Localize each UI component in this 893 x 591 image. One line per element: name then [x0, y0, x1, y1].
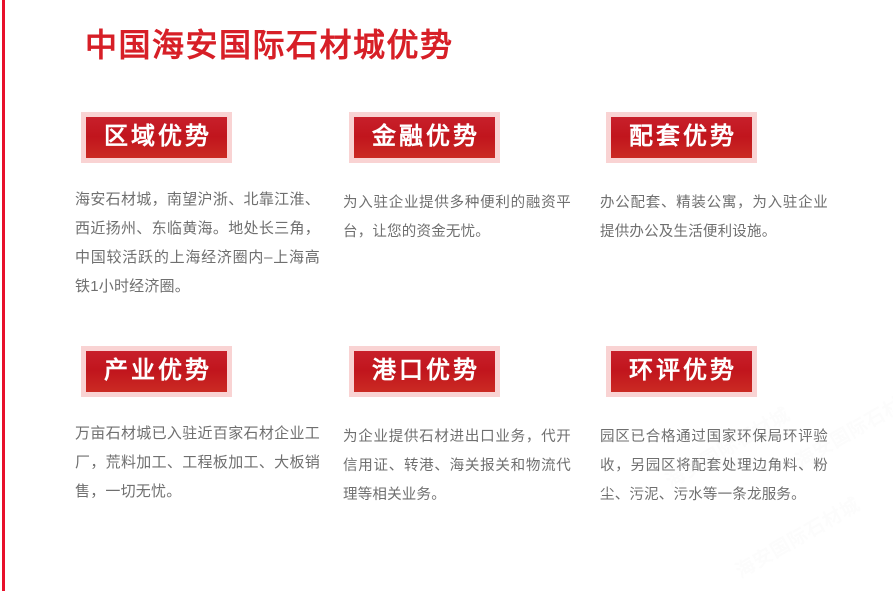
advantage-body: 万亩石材城已入驻近百家石材企业工厂，荒料加工、工程板加工、大板销售，一切无忧。 — [75, 419, 320, 506]
advantage-body: 海安石材城，南望沪浙、北靠江淮、西近扬州、东临黄海。地处长三角，中国较活跃的上海… — [75, 185, 320, 301]
badge-label: 区域优势 — [101, 124, 212, 150]
badge-label: 金融优势 — [369, 124, 480, 150]
badge-label: 环评优势 — [626, 358, 737, 384]
badge-label: 港口优势 — [369, 358, 480, 384]
badge-plate: 产业优势 — [86, 351, 227, 392]
advantage-card-industry: 产业优势 万亩石材城已入驻近百家石材企业工厂，荒料加工、工程板加工、大板销售，一… — [75, 346, 345, 521]
badge-plate: 环评优势 — [611, 351, 752, 392]
advantage-body: 为企业提供石材进出口业务，代开信用证、转港、海关报关和物流代理等相关业务。 — [343, 423, 571, 510]
badge-plate: 金融优势 — [354, 117, 495, 158]
badge-plate: 区域优势 — [86, 117, 227, 158]
badge-plate: 配套优势 — [611, 117, 752, 158]
badge-finance: 金融优势 — [349, 112, 500, 163]
badge-region: 区域优势 — [81, 112, 232, 163]
advantage-card-port: 港口优势 为企业提供石材进出口业务，代开信用证、转港、海关报关和物流代理等相关业… — [343, 346, 613, 525]
badge-label: 配套优势 — [626, 124, 737, 150]
advantage-body: 为入驻企业提供多种便利的融资平台，让您的资金无忧。 — [343, 189, 571, 247]
advantage-card-finance: 金融优势 为入驻企业提供多种便利的融资平台，让您的资金无忧。 — [343, 112, 613, 262]
advantage-card-region: 区域优势 海安石材城，南望沪浙、北靠江淮、西近扬州、东临黄海。地处长三角，中国较… — [75, 112, 345, 316]
badge-port: 港口优势 — [349, 346, 500, 397]
advantages-grid: 区域优势 海安石材城，南望沪浙、北靠江淮、西近扬州、东临黄海。地处长三角，中国较… — [0, 0, 893, 591]
badge-industry: 产业优势 — [81, 346, 232, 397]
badge-plate: 港口优势 — [354, 351, 495, 392]
advantage-card-environment: 环评优势 园区已合格通过国家环保局环评验收，另园区将配套处理边角料、粉尘、污泥、… — [600, 346, 870, 525]
badge-environment: 环评优势 — [606, 346, 757, 397]
badge-facilities: 配套优势 — [606, 112, 757, 163]
advantage-body: 园区已合格通过国家环保局环评验收，另园区将配套处理边角料、粉尘、污泥、污水等一条… — [600, 423, 828, 510]
advantage-body: 办公配套、精装公寓，为入驻企业提供办公及生活便利设施。 — [600, 189, 828, 247]
badge-label: 产业优势 — [101, 358, 212, 384]
advantage-card-facilities: 配套优势 办公配套、精装公寓，为入驻企业提供办公及生活便利设施。 — [600, 112, 870, 262]
